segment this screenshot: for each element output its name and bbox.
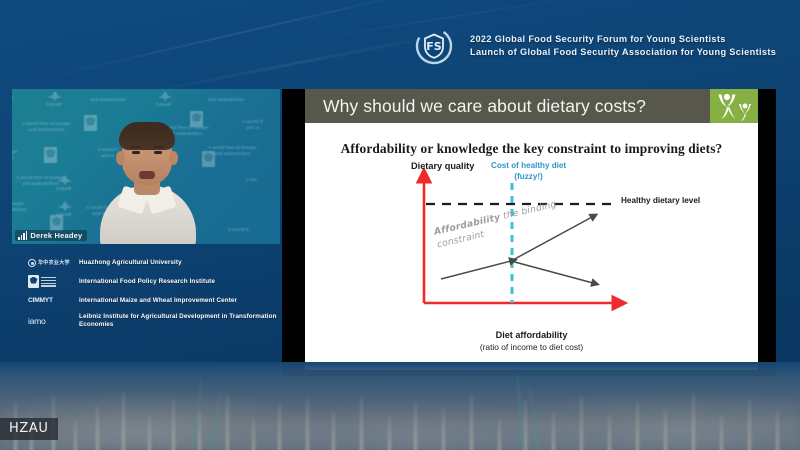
sponsor-institution-list: 华中农业大学 Huazhong Agricultural University … — [28, 256, 284, 335]
cimmyt-logo-icon: CIMMYT — [28, 294, 70, 307]
event-title-line2: Launch of Global Food Security Associati… — [470, 46, 776, 59]
iamo-logo-icon: iamo — [28, 315, 70, 328]
cost-of-healthy-diet-annotation: Cost of healthy diet (fuzzy!) — [491, 160, 566, 182]
healthy-dietary-level-annotation: Healthy dietary level — [621, 196, 700, 205]
slide-title-bar: Why should we care about dietary costs? — [305, 89, 758, 123]
svg-text:FS: FS — [426, 40, 442, 53]
series-lower-branch — [511, 261, 593, 283]
participant-video-tile[interactable]: CGIAR CGIAR hunger and malnutrition and … — [12, 89, 280, 244]
participant-name-tag: Derek Headey — [15, 230, 87, 241]
y-axis-label: Dietary quality — [411, 161, 474, 171]
list-item: CIMMYT International Maize and Wheat Imp… — [28, 294, 284, 307]
ifpri-logo-icon — [28, 275, 70, 288]
wheat-field-background — [0, 362, 800, 450]
sponsor-name: Leibniz Institute for Agricultural Devel… — [79, 313, 284, 329]
page-title: Why should we care about dietary costs? — [323, 96, 646, 117]
signal-strength-icon — [18, 232, 27, 240]
cimmyt-logo-text: CIMMYT — [28, 297, 53, 304]
dietary-cost-diagram: Dietary quality Cost of healthy diet (fu… — [305, 155, 758, 370]
event-header: FS 2022 Global Food Security Forum for Y… — [0, 0, 800, 80]
participant-webcam-image — [12, 89, 280, 244]
list-item: International Food Policy Research Insti… — [28, 275, 284, 288]
ifpri-green-people-logo-icon — [710, 89, 758, 123]
x-axis-label: Diet affordability — [305, 330, 758, 340]
sponsor-name: Huazhong Agricultural University — [79, 259, 182, 267]
sponsor-name: International Maize and Wheat Improvemen… — [79, 297, 237, 305]
x-axis-sublabel: (ratio of income to diet cost) — [305, 342, 758, 352]
participant-name-label: Derek Headey — [30, 231, 82, 240]
event-title-text: 2022 Global Food Security Forum for Youn… — [470, 33, 776, 59]
forum-shield-fs-logo-icon: FS — [415, 27, 453, 65]
hzau-watermark: HZAU — [0, 418, 58, 440]
series-pre-threshold — [441, 261, 511, 279]
video-conference-stage: FS 2022 Global Food Security Forum for Y… — [0, 0, 800, 450]
presentation-slide: Why should we care about dietary costs? — [305, 89, 758, 370]
list-item: 华中农业大学 Huazhong Agricultural University — [28, 256, 284, 269]
screen-share-frame[interactable]: Why should we care about dietary costs? — [282, 89, 776, 376]
list-item: iamo Leibniz Institute for Agricultural … — [28, 313, 284, 329]
event-title-line1: 2022 Global Food Security Forum for Youn… — [470, 33, 776, 46]
hzau-seal-logo-icon: 华中农业大学 — [28, 256, 70, 269]
iamo-logo-text: iamo — [28, 317, 45, 326]
sponsor-name: International Food Policy Research Insti… — [79, 278, 215, 286]
hzau-logo-text: 华中农业大学 — [38, 259, 70, 266]
